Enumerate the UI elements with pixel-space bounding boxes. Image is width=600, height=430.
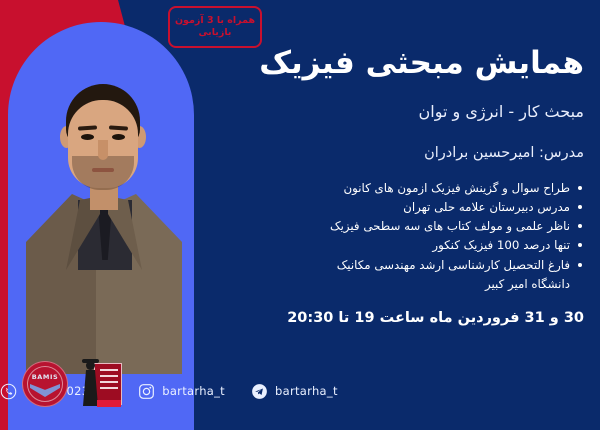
instructor-portrait xyxy=(22,74,182,374)
podium-board-line xyxy=(100,381,118,383)
instructor-name: مدرس: امیرحسین برادران xyxy=(166,145,584,161)
contact-instagram[interactable]: bartarha_t xyxy=(138,383,225,400)
promo-badge-line-1: همراه با 3 آزمون xyxy=(175,15,255,27)
list-item: فارغ التحصیل کارشناسی ارشد مهندسی مکانیک… xyxy=(166,256,584,294)
podium-board-line xyxy=(100,369,118,371)
beard-stubble xyxy=(72,156,134,190)
eye-right xyxy=(112,134,125,140)
credentials-list: طراح سوال و گزینش فیزیک ازمون های کانون … xyxy=(166,179,584,294)
mouth xyxy=(92,168,114,172)
podium-board-line xyxy=(100,375,118,377)
contact-telegram[interactable]: bartarha_t xyxy=(251,383,338,400)
emblem-text: BAMIS xyxy=(23,373,67,381)
speaker-podium-logo xyxy=(78,359,122,409)
podium-label-bar xyxy=(97,400,121,407)
page-title: همایش مبحثی فیزیک xyxy=(166,46,584,80)
list-item: مدرس دبیرستان علامه حلی تهران xyxy=(166,198,584,217)
poster-subtitle: مبحث کار - انرژی و توان xyxy=(166,102,584,121)
instagram-icon xyxy=(138,383,155,400)
promo-badge: همراه با 3 آزمون بازیابی xyxy=(168,6,262,48)
telegram-icon xyxy=(251,383,268,400)
list-item: تنها درصد 100 فیزیک کنکور xyxy=(166,236,584,255)
eye-left xyxy=(81,134,94,140)
list-item-continuation: دانشگاه امیر کبیر xyxy=(166,275,570,294)
logo-group: BAMIS xyxy=(14,356,122,412)
podium-board-line xyxy=(100,387,118,389)
speaker-hat xyxy=(82,359,99,363)
list-item: ناظر علمی و مولف کتاب های سه سطحی فیزیک xyxy=(166,217,584,236)
list-item: طراح سوال و گزینش فیزیک ازمون های کانون xyxy=(166,179,584,198)
poster-canvas: همراه با 3 آزمون بازیابی همایش مبحثی فیز… xyxy=(0,0,600,430)
poster-content: همایش مبحثی فیزیک مبحث کار - انرژی و توا… xyxy=(166,0,584,430)
list-item-text: فارغ التحصیل کارشناسی ارشد مهندسی مکانیک xyxy=(337,258,570,272)
nose xyxy=(98,140,108,160)
instagram-handle: bartarha_t xyxy=(162,384,225,398)
promo-badge-line-2: بازیابی xyxy=(199,27,232,39)
event-datetime: 30 و 31 فروردین ماه ساعت 19 تا 20:30 xyxy=(166,310,584,326)
telegram-handle: bartarha_t xyxy=(275,384,338,398)
bamis-emblem-logo: BAMIS xyxy=(22,361,68,407)
